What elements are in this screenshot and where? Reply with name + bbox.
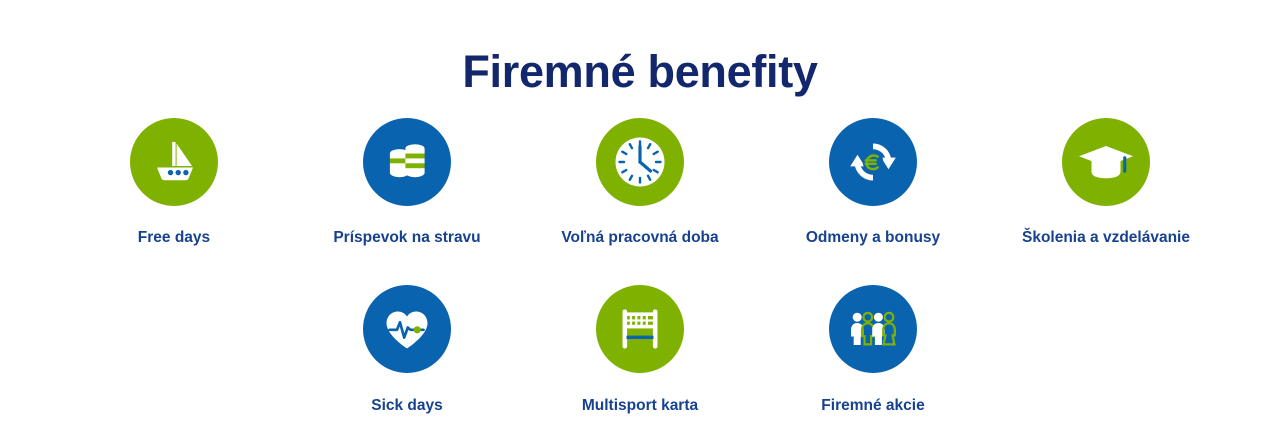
- euro-refresh-icon: [843, 132, 903, 192]
- benefit-item-company-events[interactable]: Firemné akcie: [757, 285, 990, 416]
- benefit-icon-circle: [1062, 118, 1150, 206]
- people-group-icon: [844, 300, 902, 358]
- benefit-item-flexible-hours[interactable]: Voľná pracovná doba: [524, 118, 757, 248]
- benefit-label: Sick days: [371, 396, 443, 416]
- page-title: Firemné benefity: [0, 44, 1280, 100]
- heart-pulse-icon: [378, 300, 436, 358]
- benefit-icon-circle: [596, 285, 684, 373]
- graduation-cap-icon: [1075, 131, 1137, 193]
- benefit-item-training-education[interactable]: Školenia a vzdelávanie: [990, 118, 1223, 248]
- benefit-item-free-days[interactable]: Free days: [58, 118, 291, 248]
- clock-icon: [605, 127, 675, 197]
- benefit-item-sick-days[interactable]: Sick days: [291, 285, 524, 416]
- benefit-icon-circle: [130, 118, 218, 206]
- benefit-icon-circle: [829, 118, 917, 206]
- benefit-item-meal-allowance[interactable]: Príspevok na stravu: [291, 118, 524, 248]
- sports-net-icon: [610, 299, 670, 359]
- sailboat-icon: [145, 133, 203, 191]
- benefit-label: Školenia a vzdelávanie: [1022, 228, 1190, 248]
- benefit-label: Multisport karta: [582, 396, 698, 416]
- benefits-row-1: Free days: [0, 118, 1280, 248]
- benefit-label: Free days: [138, 228, 210, 248]
- benefit-icon-circle: [363, 285, 451, 373]
- benefit-label: Voľná pracovná doba: [561, 228, 718, 248]
- coin-stacks-icon: [378, 133, 436, 191]
- benefit-icon-circle: [363, 118, 451, 206]
- benefit-label: Príspevok na stravu: [333, 228, 480, 248]
- benefit-label: Firemné akcie: [821, 396, 924, 416]
- benefit-label: Odmeny a bonusy: [806, 228, 940, 248]
- benefit-item-rewards-bonuses[interactable]: Odmeny a bonusy: [757, 118, 990, 248]
- benefit-item-multisport-card[interactable]: Multisport karta: [524, 285, 757, 416]
- benefit-icon-circle: [596, 118, 684, 206]
- benefits-row-2: Sick days: [0, 285, 1280, 416]
- benefits-page: Firemné benefity: [0, 0, 1280, 433]
- benefit-icon-circle: [829, 285, 917, 373]
